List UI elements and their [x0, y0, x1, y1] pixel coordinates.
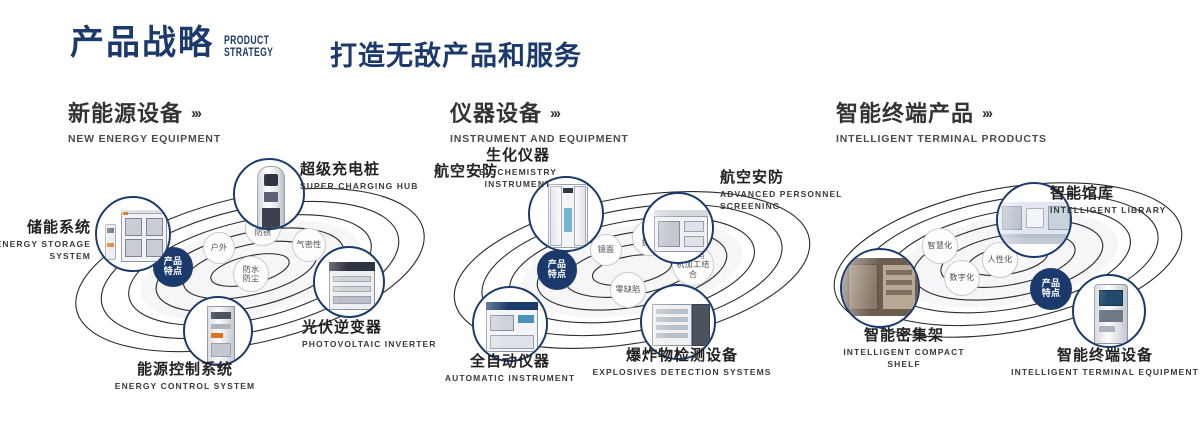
node-automatic-instrument[interactable]	[472, 286, 548, 362]
caption-intelligent-terminal-equipment: 智能终端设备 INTELLIGENT TERMINAL EQUIPMENT	[1010, 346, 1200, 377]
node-photovoltaic-inverter[interactable]	[313, 246, 385, 318]
node-energy-storage-system[interactable]	[95, 196, 171, 272]
caption-energy-control-system: 能源控制系统 ENERGY CONTROL SYSTEM	[85, 360, 285, 391]
bubble-line2: 特点	[1042, 289, 1061, 299]
section-title-en: INTELLIGENT TERMINAL PRODUCTS	[836, 133, 1047, 145]
orbit-group-terminal: 智慧化 人性化 数字化 产品特点 智能馆库 INTELLIGENT LIBRAR…	[818, 150, 1198, 390]
feature-center-bubble: 产品特点	[1030, 268, 1072, 310]
gloss-overlay	[842, 250, 918, 326]
page-title: 产品战略 PRODUCT STRATEGY	[70, 26, 292, 60]
feature-bubble-digital: 数字化	[944, 260, 980, 296]
gloss-overlay	[1074, 276, 1144, 346]
caption-energy-storage-system: 储能系统 ENERGY STORAGE SYSTEM	[0, 218, 91, 262]
section-title-en: NEW ENERGY EQUIPMENT	[68, 133, 221, 145]
gloss-overlay	[644, 194, 712, 262]
caption-cn: 全自动仪器	[420, 352, 600, 371]
caption-cn: 能源控制系统	[85, 360, 285, 379]
caption-en-1: BIOCHEMISTRY	[448, 167, 588, 178]
chevrons-icon: ›››	[191, 105, 200, 122]
caption-intelligent-library: 智能馆库 INTELLIGENT LIBRARY	[1050, 184, 1200, 215]
bubble-line1: 零缺陷	[616, 285, 641, 294]
caption-en-1: EXPLOSIVES DETECTION SYSTEMS	[592, 367, 772, 378]
caption-biochemistry-instrument: 生化仪器 BIOCHEMISTRY INSTRUMENT	[448, 146, 588, 190]
caption-en-2: SHELF	[814, 359, 994, 370]
chevrons-icon: ›››	[982, 105, 991, 122]
page-subtitle: 打造无敌产品和服务	[330, 34, 582, 73]
feature-bubble-smart: 智慧化	[922, 228, 958, 264]
caption-cn: 爆炸物检测设备	[592, 346, 772, 365]
bubble-line1: 户外	[211, 243, 228, 252]
gloss-overlay	[235, 160, 303, 228]
caption-en-1: INTELLIGENT TERMINAL EQUIPMENT	[1010, 367, 1200, 378]
section-heading-terminal: 智能终端产品››› INTELLIGENT TERMINAL PRODUCTS	[836, 96, 1047, 145]
caption-en-1: INTELLIGENT COMPACT	[814, 347, 994, 358]
caption-cn: 生化仪器	[448, 146, 588, 165]
caption-cn: 智能终端设备	[1010, 346, 1200, 365]
caption-explosives-detection: 爆炸物检测设备 EXPLOSIVES DETECTION SYSTEMS	[592, 346, 772, 377]
orbit-group-new-energy: 产品特点 户外 防腐防锈 防水防尘 气密性 储能系统	[55, 150, 445, 390]
title-english-line2: STRATEGY	[224, 46, 273, 58]
gloss-overlay	[185, 298, 251, 364]
bubble-line1: 产品	[1042, 279, 1061, 289]
caption-automatic-instrument: 全自动仪器 AUTOMATIC INSTRUMENT	[420, 352, 600, 383]
section-title-cn: 新能源设备	[68, 102, 183, 127]
caption-cn: 储能系统	[0, 218, 91, 237]
bubble-line1: 智慧化	[928, 241, 953, 250]
caption-cn: 智能密集架	[814, 326, 994, 345]
node-advanced-screening[interactable]	[642, 192, 714, 264]
section-heading-instrument: 仪器设备››› INSTRUMENT AND EQUIPMENT	[450, 96, 629, 145]
feature-bubble-waterproof: 防水防尘	[233, 256, 269, 292]
chevrons-icon: ›››	[550, 105, 559, 122]
caption-en-2: SYSTEM	[0, 251, 91, 262]
section-title-en: INSTRUMENT AND EQUIPMENT	[450, 133, 629, 145]
caption-en-2: INSTRUMENT	[448, 179, 588, 190]
infographic-canvas: 产品战略 PRODUCT STRATEGY 打造无敌产品和服务 新能源设备›››…	[0, 0, 1200, 422]
bubble-line1: 防水	[243, 265, 260, 274]
caption-en-1: ENERGY CONTROL SYSTEM	[85, 381, 285, 392]
node-energy-control-system[interactable]	[183, 296, 253, 366]
caption-intelligent-compact-shelf: 智能密集架 INTELLIGENT COMPACT SHELF	[814, 326, 994, 370]
gloss-overlay	[474, 288, 546, 360]
bubble-line1: 数字化	[950, 273, 975, 282]
title-chinese: 产品战略	[70, 26, 214, 60]
node-intelligent-compact-shelf[interactable]	[840, 248, 920, 328]
node-super-charging-hub[interactable]	[233, 158, 305, 230]
feature-bubble-outdoor: 户外	[203, 232, 235, 264]
orbit-group-instrument: 产品特点 镜面 电解抛光 钣金与机加工结合 零缺陷 航空安防 生化仪器 BIOC	[432, 150, 832, 390]
title-english: PRODUCT STRATEGY	[224, 34, 273, 58]
bubble-line2: 防尘	[243, 274, 260, 283]
bubble-line1: 产品	[548, 260, 567, 270]
bubble-line1: 人性化	[988, 255, 1013, 264]
section-heading-new-energy: 新能源设备››› NEW ENERGY EQUIPMENT	[68, 96, 221, 145]
bubble-line2: 特点	[548, 270, 567, 280]
caption-en-1: ENERGY STORAGE	[0, 239, 91, 250]
gloss-overlay	[315, 248, 383, 316]
caption-en-1: INTELLIGENT LIBRARY	[1050, 205, 1200, 216]
node-intelligent-terminal-equipment[interactable]	[1072, 274, 1146, 348]
section-title-cn: 智能终端产品	[836, 102, 974, 127]
section-title-cn: 仪器设备	[450, 102, 542, 127]
feature-center-bubble: 产品特点	[537, 250, 577, 290]
caption-en-1: AUTOMATIC INSTRUMENT	[420, 373, 600, 384]
feature-bubble-zero-defect: 零缺陷	[610, 272, 646, 308]
gloss-overlay	[97, 198, 169, 270]
caption-cn: 智能馆库	[1050, 184, 1200, 203]
